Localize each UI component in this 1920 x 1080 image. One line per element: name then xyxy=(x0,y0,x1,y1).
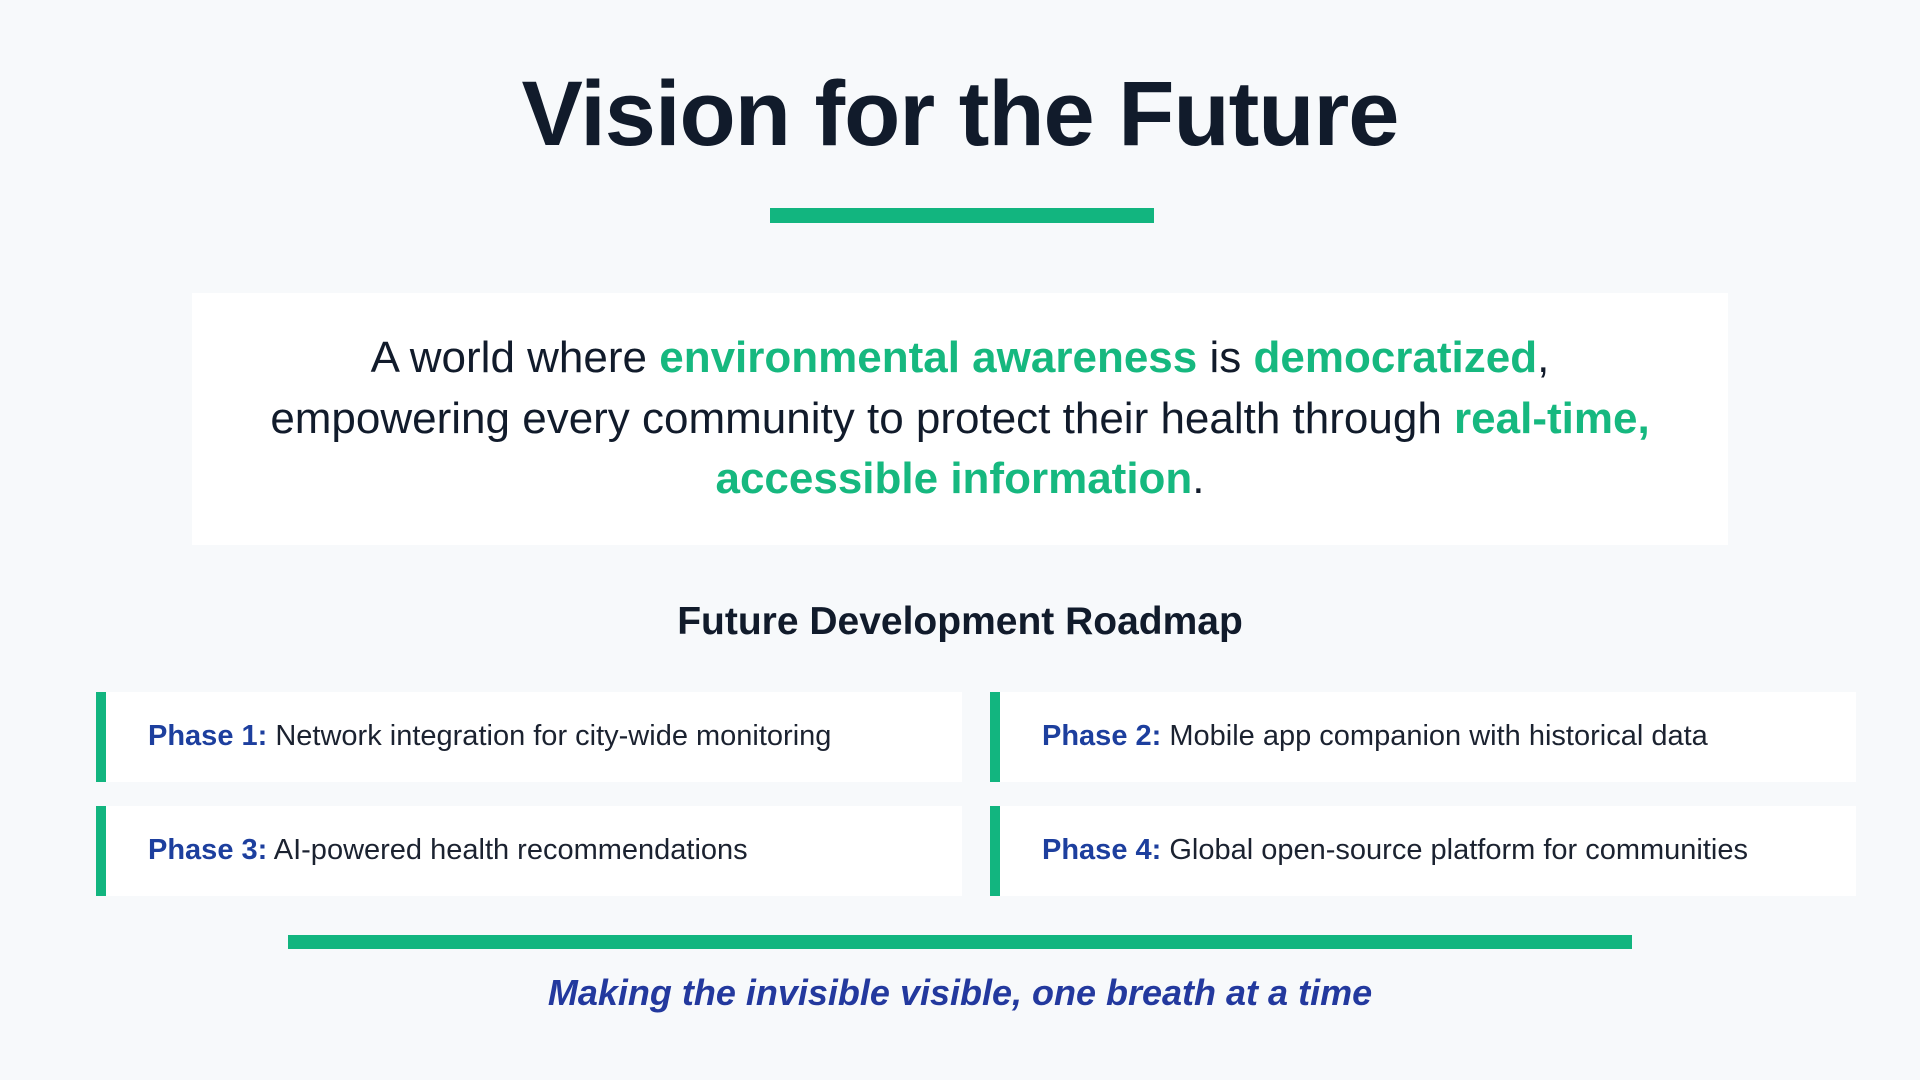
roadmap-phase-grid: Phase 1: Network integration for city-wi… xyxy=(96,692,1856,896)
footer-tagline: Making the invisible visible, one breath… xyxy=(0,972,1920,1014)
phase-1-label: Phase 1: xyxy=(148,720,267,752)
vision-line1-prefix: A world where xyxy=(371,333,660,382)
vision-highlight-environmental-awareness: environmental awareness xyxy=(659,333,1197,382)
phase-card-1[interactable]: Phase 1: Network integration for city-wi… xyxy=(96,692,962,782)
roadmap-heading: Future Development Roadmap xyxy=(0,600,1920,644)
vision-line1-middle: is xyxy=(1197,333,1253,382)
vision-line3-suffix: . xyxy=(1192,454,1204,503)
phase-card-2[interactable]: Phase 2: Mobile app companion with histo… xyxy=(990,692,1856,782)
phase-1-text: Phase 1: Network integration for city-wi… xyxy=(148,718,831,756)
phase-2-text: Phase 2: Mobile app companion with histo… xyxy=(1042,718,1708,756)
vision-statement-card: A world where environmental awareness is… xyxy=(192,293,1728,545)
phase-1-description: Network integration for city-wide monito… xyxy=(267,720,831,752)
footer-accent-bar xyxy=(288,935,1632,949)
vision-line2: empowering every community to protect th… xyxy=(270,394,1441,443)
slide-root: Vision for the Future A world where envi… xyxy=(0,0,1920,1080)
phase-4-description: Global open-source platform for communit… xyxy=(1161,834,1748,866)
vision-statement-text: A world where environmental awareness is… xyxy=(255,328,1665,510)
title-accent-bar xyxy=(770,208,1154,223)
phase-card-3[interactable]: Phase 3: AI-powered health recommendatio… xyxy=(96,806,962,896)
phase-card-4[interactable]: Phase 4: Global open-source platform for… xyxy=(990,806,1856,896)
phase-3-text: Phase 3: AI-powered health recommendatio… xyxy=(148,832,748,870)
phase-4-label: Phase 4: xyxy=(1042,834,1161,866)
vision-highlight-democratized: democratized xyxy=(1253,333,1537,382)
vision-line1-suffix: , xyxy=(1537,333,1549,382)
page-title: Vision for the Future xyxy=(0,62,1920,168)
phase-3-label: Phase 3: xyxy=(148,834,267,866)
phase-2-description: Mobile app companion with historical dat… xyxy=(1161,720,1707,752)
phase-3-description: AI-powered health recommendations xyxy=(267,834,747,866)
phase-4-text: Phase 4: Global open-source platform for… xyxy=(1042,832,1748,870)
phase-2-label: Phase 2: xyxy=(1042,720,1161,752)
